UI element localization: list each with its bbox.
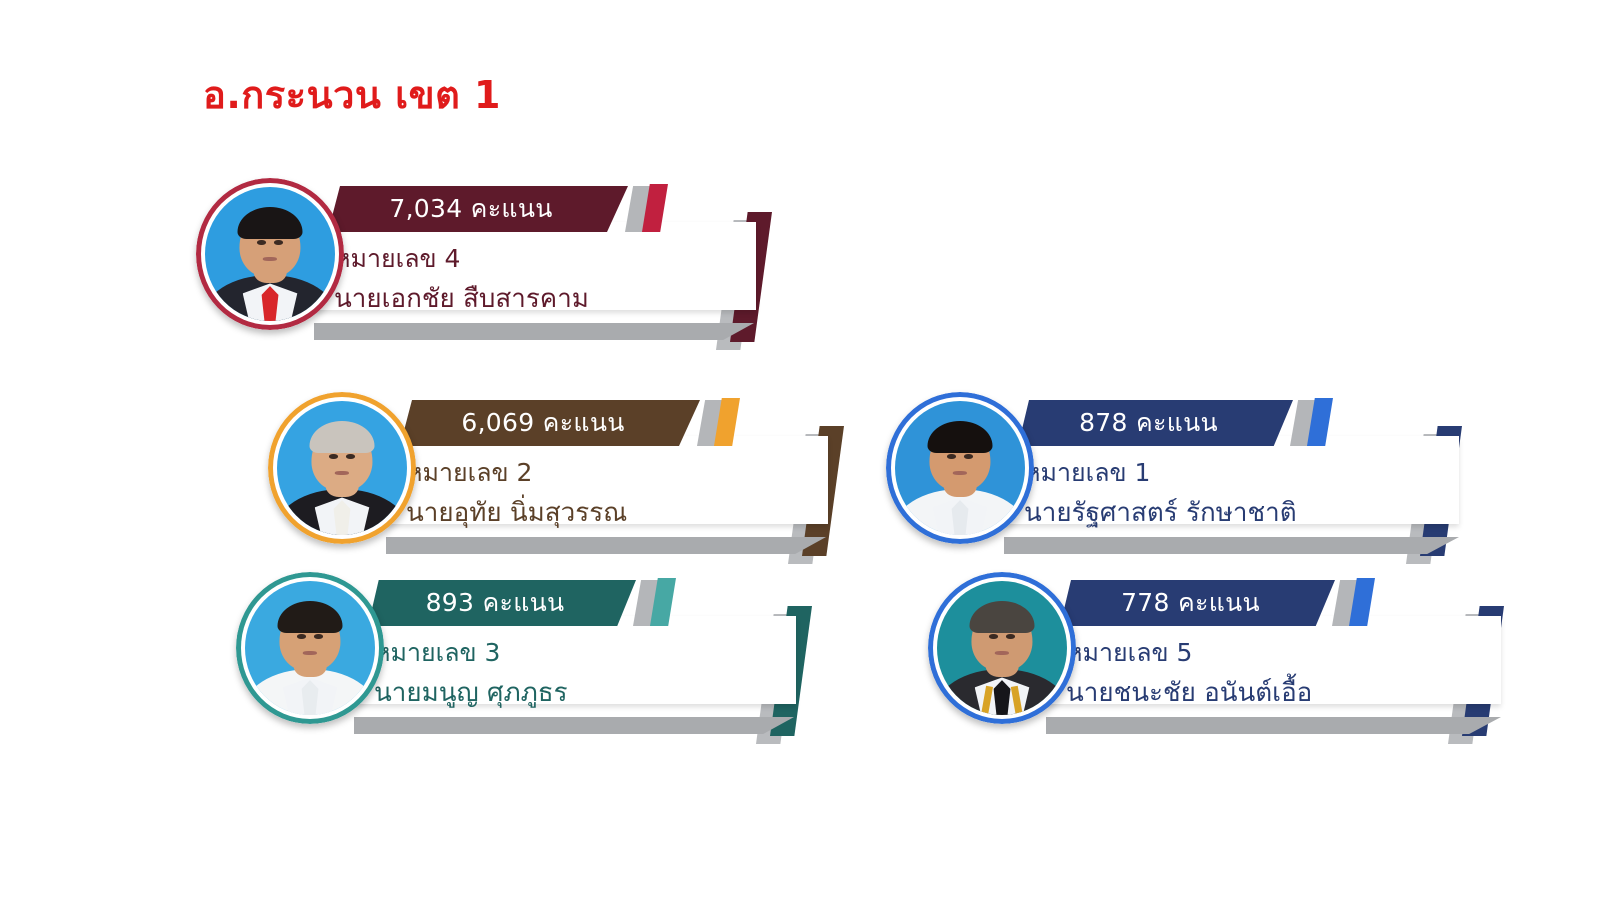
candidate-name-label: นายเอกชัย สืบสารคาม [334,278,589,319]
page-title: อ.กระนวน เขต 1 [203,64,501,125]
ballot-number-label: หมายเลข 3 [374,633,500,673]
portrait-photo [205,187,335,321]
score-text: 878 คะแนน [1079,403,1218,443]
candidate-name-label: นายรัฐศาสตร์ รักษาชาติ [1024,492,1297,533]
score-text: 778 คะแนน [1121,583,1260,623]
card-base-bar [1004,537,1459,554]
card-base-bar [314,323,754,340]
card-base-bar [386,537,826,554]
portrait-photo [895,401,1025,535]
candidate-card-2[interactable]: 6,069 คะแนน หมายเลข 2 นายอุทัย นิ่มสุวรร… [268,392,948,567]
score-banner: 7,034 คะแนน [328,186,628,232]
candidate-card-4[interactable]: 878 คะแนน หมายเลข 1 นายรัฐศาสตร์ รักษาชา… [886,392,1566,567]
portrait-photo [245,581,375,715]
card-base-bar [354,717,794,734]
candidate-name-label: นายอุทัย นิ่มสุวรรณ [406,492,627,533]
portrait-photo [277,401,407,535]
candidate-portrait-2[interactable] [268,392,416,544]
candidate-portrait-5[interactable] [928,572,1076,724]
ballot-number-label: หมายเลข 2 [406,453,532,493]
candidate-portrait-4[interactable] [886,392,1034,544]
candidate-name-label: นายมนูญ ศุภภูธร [374,672,568,713]
score-banner: 6,069 คะแนน [400,400,700,446]
candidate-card-1[interactable]: 7,034 คะแนน หมายเลข 4 นายเอกชัย สืบสารคา… [196,178,876,353]
score-banner: 878 คะแนน [1018,400,1293,446]
card-base-bar [1046,717,1501,734]
score-banner: 778 คะแนน [1060,580,1335,626]
ballot-number-label: หมายเลข 5 [1066,633,1192,673]
score-text: 893 คะแนน [426,583,565,623]
score-text: 7,034 คะแนน [389,189,552,229]
candidate-portrait-1[interactable] [196,178,344,330]
score-banner: 893 คะแนน [368,580,636,626]
candidate-portrait-3[interactable] [236,572,384,724]
candidate-card-3[interactable]: 893 คะแนน หมายเลข 3 นายมนูญ ศุภภูธร [236,572,916,747]
ballot-number-label: หมายเลข 1 [1024,453,1150,493]
score-text: 6,069 คะแนน [461,403,624,443]
candidate-name-label: นายชนะชัย อนันต์เอื้อ [1066,672,1312,713]
ballot-number-label: หมายเลข 4 [334,239,460,279]
candidate-card-5[interactable]: 778 คะแนน หมายเลข 5 นายชนะชัย อนันต์เอื้… [928,572,1600,747]
portrait-photo [937,581,1067,715]
